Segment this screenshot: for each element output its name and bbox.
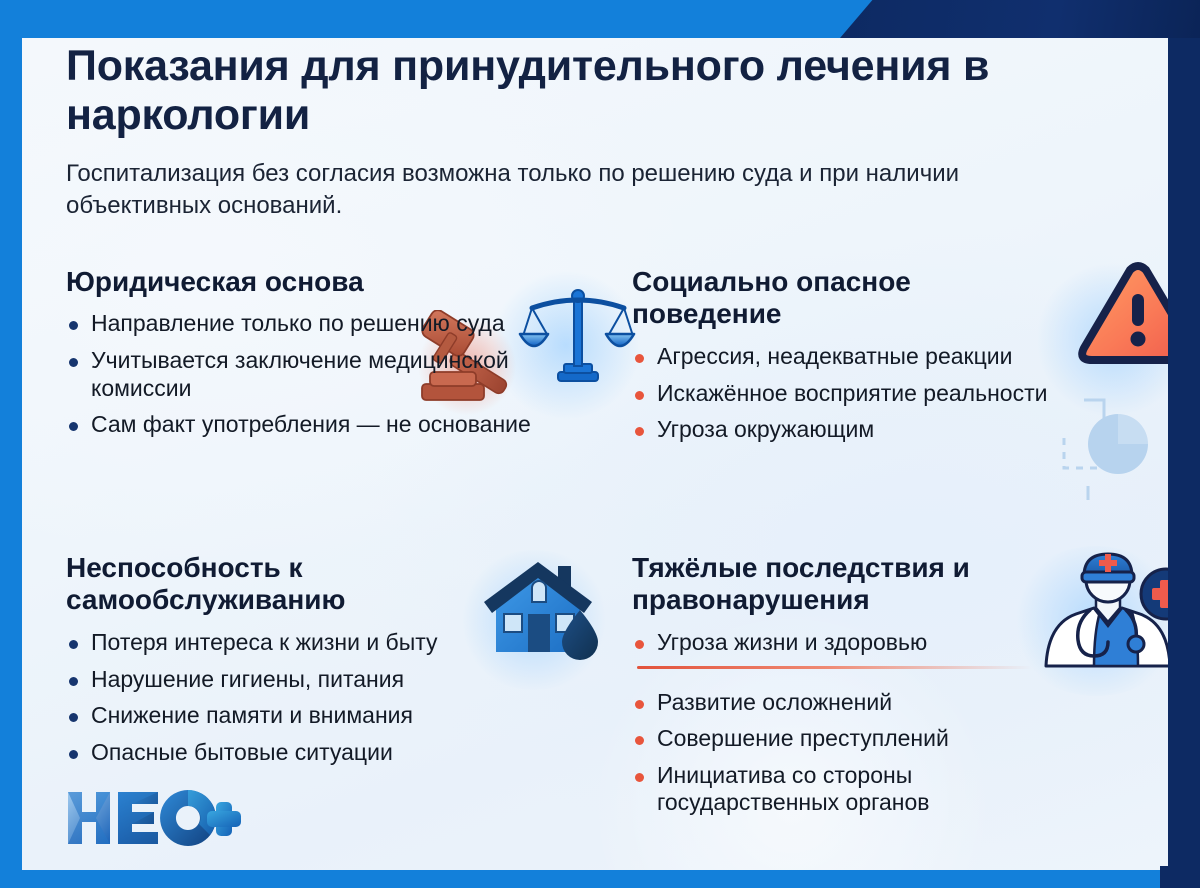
list-item: Опасные бытовые ситуации: [66, 739, 531, 767]
page-subtitle: Госпитализация без согласия возможна тол…: [66, 158, 1056, 222]
block-heading: Тяжёлые последствия и правонарушения: [632, 552, 1062, 617]
list-item: Инициатива со стороны государственных ор…: [632, 762, 1087, 817]
block-heading: Социально опасное поведение: [632, 266, 1062, 331]
frame-bar-left: [0, 0, 22, 888]
list-item: Искажённое восприятие реальности: [632, 380, 1087, 408]
list-item: Снижение памяти и внимания: [66, 702, 531, 730]
block-item-list: Направление только по решению суда Учиты…: [66, 310, 632, 438]
frame-corner-navy: [1160, 866, 1200, 888]
list-item: Угроза окружающим: [632, 416, 1087, 444]
frame-bar-right: [1168, 0, 1200, 888]
block-legal-basis: Юридическая основа Направление только по…: [66, 266, 632, 552]
list-item: Сам факт употребления — не основание: [66, 411, 531, 439]
poster-header: Показания для принудительного лечения в …: [66, 42, 1056, 222]
block-item-list: Развитие осложнений Совершение преступле…: [632, 689, 1138, 817]
block-item-list: Агрессия, неадекватные реакции Искажённо…: [632, 343, 1138, 444]
infographic-poster: Показания для принудительного лечения в …: [0, 0, 1200, 888]
block-severe-consequences: Тяжёлые последствия и правонарушения Угр…: [632, 552, 1138, 826]
content-grid: Юридическая основа Направление только по…: [66, 266, 1138, 826]
list-item: Развитие осложнений: [632, 689, 1087, 717]
list-item: Потеря интереса к жизни и быту: [66, 629, 531, 657]
block-heading: Неспособность к самообслуживанию: [66, 552, 536, 617]
block-self-care-inability: Неспособность к самообслуживанию Потеря …: [66, 552, 632, 826]
list-item: Направление только по решению суда: [66, 310, 531, 338]
block-heading: Юридическая основа: [66, 266, 536, 298]
list-item: Совершение преступлений: [632, 725, 1087, 753]
medical-cross-icon: [1141, 569, 1168, 619]
brand-logo-text: НЕО+: [66, 788, 242, 848]
frame-bar-bottom: [0, 870, 1200, 888]
frame-accent-navy: [840, 0, 1200, 38]
list-item: Нарушение гигиены, питания: [66, 666, 531, 694]
list-item: Угроза жизни и здоровью: [632, 629, 1087, 657]
poster-canvas: Показания для принудительного лечения в …: [22, 38, 1168, 870]
block-dangerous-behavior: Социально опасное поведение Агрессия, не…: [632, 266, 1138, 552]
block-item-list: Потеря интереса к жизни и быту Нарушение…: [66, 629, 632, 766]
block-item-list-primary: Угроза жизни и здоровью: [632, 629, 1138, 657]
list-item: Агрессия, неадекватные реакции: [632, 343, 1087, 371]
brand-logo[interactable]: НЕО+: [66, 788, 242, 848]
list-item: Учитывается заключение медицинской комис…: [66, 347, 531, 402]
page-title: Показания для принудительного лечения в …: [66, 42, 1056, 140]
section-divider: [637, 666, 1032, 669]
